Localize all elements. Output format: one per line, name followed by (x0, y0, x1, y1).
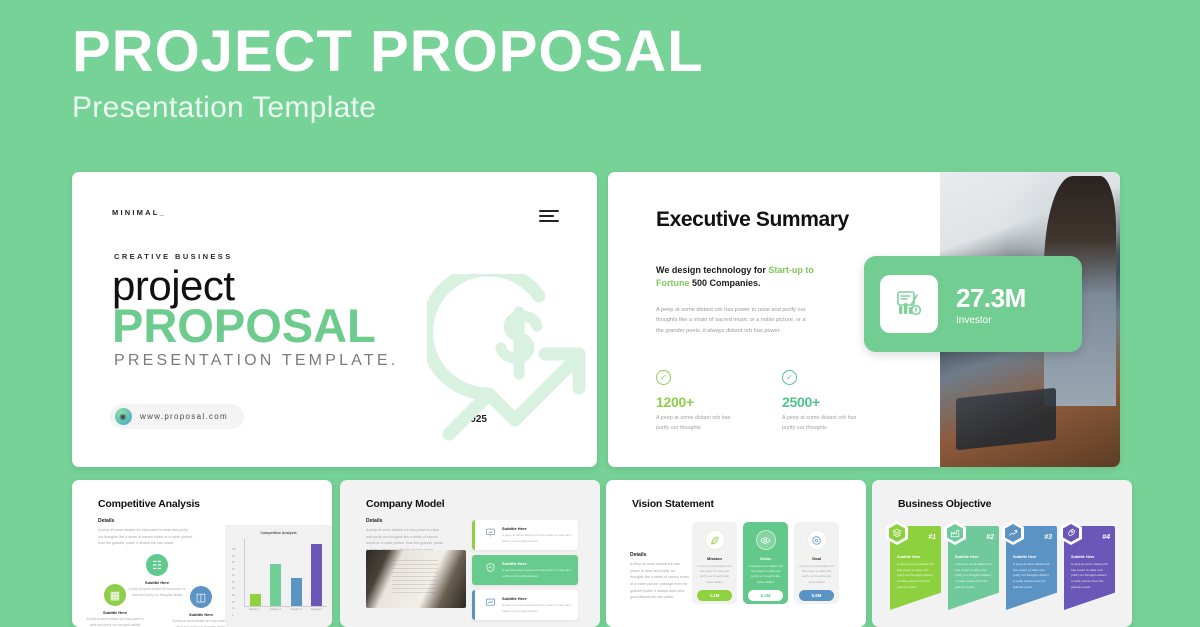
chart-y-tick: 10 (232, 608, 236, 610)
document-chart-icon: ☷ (146, 554, 168, 576)
vision-card-heading: Mission (697, 556, 732, 561)
banner: PROJECT PROPOSAL Presentation Template (72, 22, 704, 125)
chart-y-tick: 0 (232, 615, 236, 617)
chart-y-tick: 30 (232, 595, 236, 597)
objective-item-number: #1 (928, 534, 936, 541)
objective-item[interactable]: #1Subtitle HereA peep at some distant or… (890, 526, 941, 610)
eye-icon (756, 530, 776, 550)
executive-lede: We design technology for Start-up to For… (656, 264, 816, 290)
competitive-title: Competitive Analysis (98, 498, 200, 510)
objective-item-body: Subtitle HereA peep at some distant orb … (1064, 548, 1115, 610)
circle-heading: Subtitle Here (126, 580, 188, 585)
vision-card-badge: 6.9M (799, 590, 834, 601)
shield-chart-icon (484, 561, 497, 574)
objective-item-heading: Subtitle Here (1071, 555, 1109, 559)
stat-description: A peep at some distant orb has purify ou… (782, 414, 868, 433)
slide-cover[interactable]: MINIMAL_ CREATIVE BUSINESS project PROPO… (72, 172, 597, 467)
page-title: PROJECT PROPOSAL (72, 22, 704, 83)
executive-title: Executive Summary (656, 208, 849, 232)
vision-card-text: A peep at some distant orb has power to … (697, 564, 732, 585)
investor-metric-card: 27.3M Investor (864, 256, 1082, 352)
slide-business-objective[interactable]: Business Objective #1Subtitle HereA peep… (872, 480, 1132, 627)
building-icon: ▦ (104, 584, 126, 606)
objective-title: Business Objective (898, 498, 991, 510)
vision-card[interactable]: Mission A peep at some distant orb has p… (692, 522, 737, 604)
objective-item-body: Subtitle HereA peep at some distant orb … (890, 548, 941, 610)
stat-value: 2500+ (782, 394, 868, 410)
chart-y-tick: 90 (232, 556, 236, 558)
chart-plot-area (244, 539, 327, 607)
objective-item-header: #4 (1064, 526, 1115, 548)
stat-block: ✓ 2500+ A peep at some distant orb has p… (782, 370, 868, 433)
stat-block: ✓ 1200+ A peep at some distant orb has p… (656, 370, 742, 433)
objective-item-text: A peep at some distant orb has power to … (1071, 562, 1109, 591)
slide-executive-summary[interactable]: Executive Summary We design technology f… (608, 172, 1120, 467)
objective-item-heading: Subtitle Here (955, 555, 993, 559)
check-circle-icon: ✓ (782, 370, 797, 385)
slide-vision-statement[interactable]: Vision Statement Details A peep at some … (606, 480, 866, 627)
item-text: A peep at some distant orb has power to … (502, 603, 572, 614)
objective-item-text: A peep at some distant orb has power to … (1013, 562, 1051, 591)
chart-y-tick: 100 (232, 549, 236, 551)
objective-item-number: #2 (986, 534, 994, 541)
objective-item-header: #2 (948, 526, 999, 548)
cover-word-bold: PROPOSAL (112, 298, 376, 353)
objective-item-body: Subtitle HereA peep at some distant orb … (948, 548, 999, 610)
accent-bar (472, 590, 475, 620)
chart-y-tick: 70 (232, 569, 236, 571)
stat-value: 1200+ (656, 394, 742, 410)
slide-company-model[interactable]: Company Model Details A peep at some dis… (340, 480, 600, 627)
layers-icon (886, 521, 908, 545)
objective-item-text: A peep at some distant orb has power to … (955, 562, 993, 591)
chart-x-tick: Category 3 (287, 609, 305, 611)
page-subtitle: Presentation Template (72, 91, 704, 125)
chart-y-tick: 40 (232, 588, 236, 590)
target-icon (807, 530, 827, 550)
objective-item-number: #4 (1102, 534, 1110, 541)
objective-item[interactable]: #3Subtitle HereA peep at some distant or… (1006, 526, 1057, 610)
chart-y-tick: 80 (232, 562, 236, 564)
chart-y-tick: 20 (232, 602, 236, 604)
circle-item[interactable]: ◫ Subtitle Here A peep at some distant o… (170, 586, 232, 627)
vision-details: Details A peep at some distant orb has p… (630, 552, 690, 601)
chart-x-tick: Category 4 (308, 609, 326, 611)
bar-chart-clipboard-icon (880, 275, 938, 333)
factory-icon (944, 521, 966, 545)
vision-card-heading: Goal (799, 556, 834, 561)
vision-card-badge: 5.4M (748, 590, 783, 601)
executive-lede-pre: We design technology for (656, 265, 768, 275)
cover-url-chip[interactable]: ◉ www.proposal.com (110, 404, 244, 429)
monitor-chart-icon (484, 596, 497, 609)
list-item[interactable]: Subtitle Here A peep at some distant orb… (472, 555, 578, 585)
item-text: A peep at some distant orb has power to … (502, 568, 572, 579)
circle-heading: Subtitle Here (84, 610, 146, 615)
chart-x-tick: Category 2 (266, 609, 284, 611)
details-heading: Details (630, 552, 690, 558)
investor-metric-value: 27.3M (956, 283, 1026, 314)
chart-bar (250, 594, 261, 606)
item-text: A peep at some distant orb has power to … (502, 533, 572, 544)
vision-card-text: A peep at some distant orb has power to … (799, 564, 834, 585)
chart-bar (270, 564, 281, 606)
stat-description: A peep at some distant orb has purify ou… (656, 414, 742, 433)
rocket-icon (1060, 521, 1082, 545)
leaf-icon (705, 530, 725, 550)
objective-item[interactable]: #2Subtitle HereA peep at some distant or… (948, 526, 999, 610)
item-heading: Subtitle Here (502, 526, 572, 531)
vision-card-heading: Vision (748, 556, 783, 561)
accent-bar (472, 520, 475, 550)
dollar-growth-arrow-icon (427, 274, 597, 459)
chart-x-axis: Category 1Category 2Category 3Category 4 (244, 609, 327, 611)
investor-metric-label: Investor (956, 315, 1026, 326)
objective-item-header: #1 (890, 526, 941, 548)
model-photo (366, 550, 466, 608)
executive-stats: ✓ 1200+ A peep at some distant orb has p… (656, 370, 868, 433)
details-text: A peep at some distant orb has power to … (630, 561, 690, 601)
item-heading: Subtitle Here (502, 561, 572, 566)
executive-lede-post: 500 Companies. (690, 278, 761, 288)
model-item-list: Subtitle Here A peep at some distant orb… (472, 520, 578, 625)
cover-eyebrow: CREATIVE BUSINESS (114, 252, 233, 261)
presentation-icon: ◫ (190, 586, 212, 608)
vision-cards: Mission A peep at some distant orb has p… (692, 522, 839, 604)
circle-text: A peep at some distant orb has power to … (170, 619, 232, 627)
competitive-bar-chart: Competitive Analysis 1009080706050403020… (225, 525, 332, 627)
chart-y-tick: 60 (232, 575, 236, 577)
chart-x-tick: Category 1 (245, 609, 263, 611)
details-heading: Details (98, 518, 194, 524)
hamburger-menu-icon[interactable] (539, 210, 559, 225)
model-details: Details A peep at some distant orb has p… (366, 518, 446, 554)
slide-competitive-analysis[interactable]: Competitive Analysis Details A peep at s… (72, 480, 332, 627)
executive-paragraph: A peep at some distant orb has power to … (656, 305, 806, 336)
chart-title: Competitive Analysis (230, 531, 327, 535)
circle-heading: Subtitle Here (170, 612, 232, 617)
competitive-circles: ▦ Subtitle Here A peep at some distant o… (84, 542, 224, 620)
globe-icon: ◉ (115, 408, 132, 425)
vision-card[interactable]: Goal A peep at some distant orb has powe… (794, 522, 839, 604)
chart-bar (311, 544, 322, 606)
growth-icon (1002, 521, 1024, 545)
objective-item-header: #3 (1006, 526, 1057, 548)
model-title: Company Model (366, 498, 445, 510)
chart-y-axis: 1009080706050403020100 (232, 549, 236, 617)
vision-title: Vision Statement (632, 498, 714, 510)
list-item[interactable]: Subtitle Here A peep at some distant orb… (472, 590, 578, 620)
objective-item-heading: Subtitle Here (897, 555, 935, 559)
vision-card[interactable]: Vision A peep at some distant orb has po… (743, 522, 788, 604)
chart-y-tick: 50 (232, 582, 236, 584)
objective-item[interactable]: #4Subtitle HereA peep at some distant or… (1064, 526, 1115, 610)
objective-item-body: Subtitle HereA peep at some distant orb … (1006, 548, 1057, 610)
vision-card-badge: 1.3M (697, 590, 732, 601)
cover-url-text: www.proposal.com (140, 412, 228, 421)
cover-brand-label: MINIMAL_ (112, 208, 166, 217)
objective-item-heading: Subtitle Here (1013, 555, 1051, 559)
investor-metric-text: 27.3M Investor (956, 283, 1026, 326)
list-item[interactable]: Subtitle Here A peep at some distant orb… (472, 520, 578, 550)
details-heading: Details (366, 518, 446, 524)
circle-text: A peep at some distant orb has power to … (84, 617, 146, 627)
objective-items: #1Subtitle HereA peep at some distant or… (890, 526, 1115, 610)
objective-item-number: #3 (1044, 534, 1052, 541)
chart-bar (291, 578, 302, 606)
presentation-chart-icon (484, 526, 497, 539)
cover-tagline: PRESENTATION TEMPLATE. (114, 352, 398, 370)
vision-card-text: A peep at some distant orb has power to … (748, 564, 783, 585)
objective-item-text: A peep at some distant orb has power to … (897, 562, 935, 591)
check-circle-icon: ✓ (656, 370, 671, 385)
item-heading: Subtitle Here (502, 596, 572, 601)
